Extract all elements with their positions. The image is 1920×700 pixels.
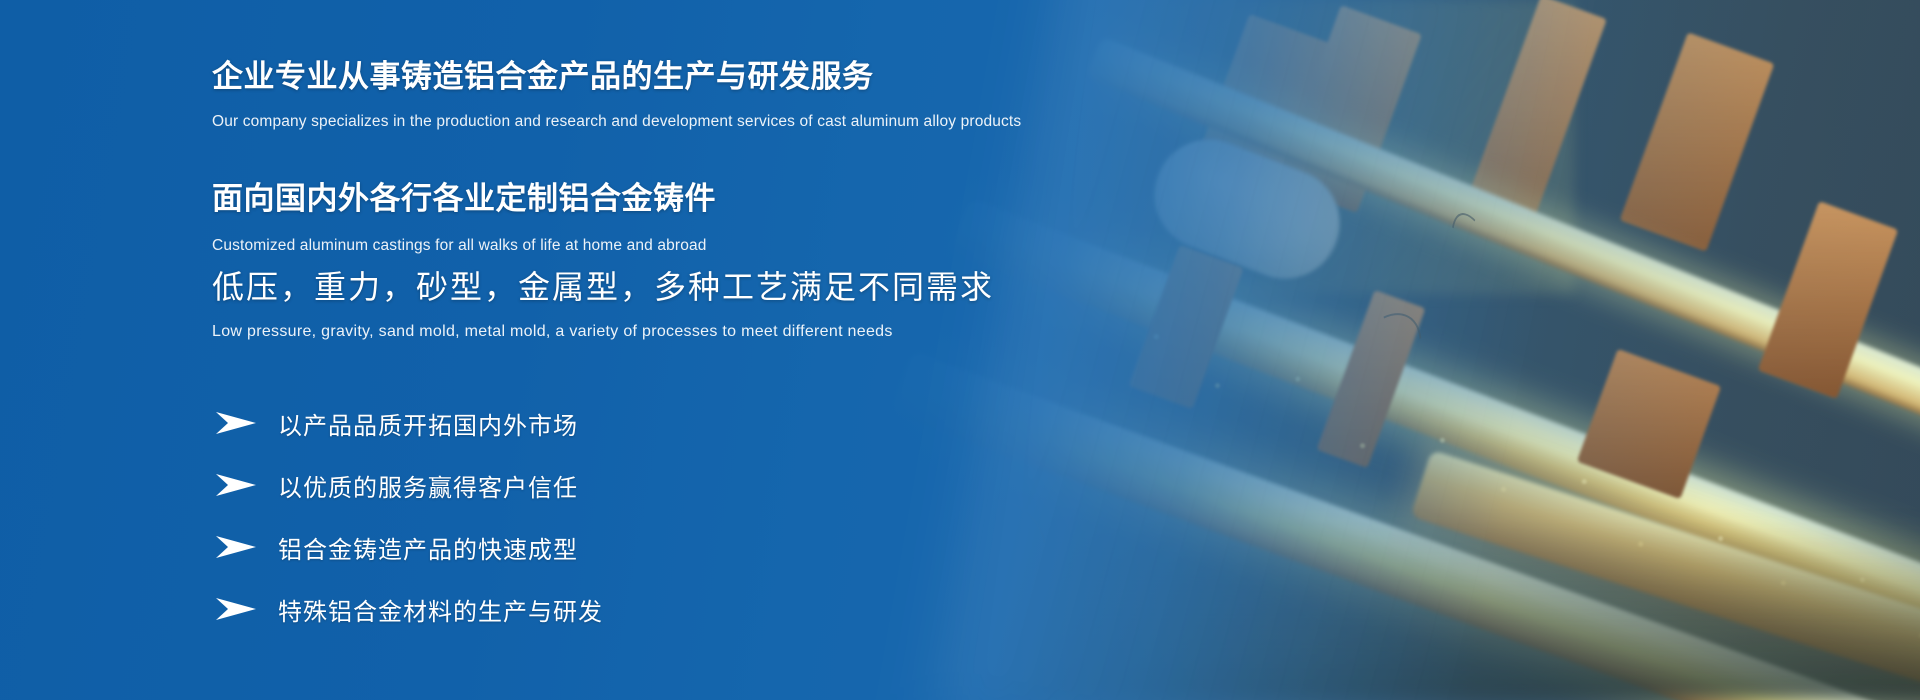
heading-block-1: 企业专业从事铸造铝合金产品的生产与研发服务 Our company specia… [212, 58, 1021, 132]
hero-banner: 企业专业从事铸造铝合金产品的生产与研发服务 Our company specia… [0, 0, 1920, 700]
list-item-label: 以优质的服务赢得客户信任 [278, 468, 578, 503]
arrow-right-icon [214, 597, 258, 621]
list-item-label: 铝合金铸造产品的快速成型 [278, 530, 578, 565]
list-item-label: 以产品品质开拓国内外市场 [278, 406, 578, 441]
arrow-right-icon [214, 411, 258, 435]
list-item: 特殊铝合金材料的生产与研发 [214, 578, 603, 640]
heading-2-cn: 面向国内外各行各业定制铝合金铸件 [212, 180, 716, 217]
banner-content: 企业专业从事铸造铝合金产品的生产与研发服务 Our company specia… [212, 0, 1412, 700]
heading-1-cn: 企业专业从事铸造铝合金产品的生产与研发服务 [212, 58, 1021, 95]
list-item-label: 特殊铝合金材料的生产与研发 [278, 592, 603, 627]
feature-bullet-list: 以产品品质开拓国内外市场 以优质的服务赢得客户信任 铝合金铸造产品的快速成型 特… [214, 392, 603, 640]
arrow-right-icon [214, 473, 258, 497]
heading-block-2: 面向国内外各行各业定制铝合金铸件 Customized aluminum cas… [212, 180, 716, 256]
list-item: 铝合金铸造产品的快速成型 [214, 516, 603, 578]
arrow-right-icon [214, 535, 258, 559]
heading-3-en: Low pressure, gravity, sand mold, metal … [212, 322, 994, 343]
heading-1-en: Our company specializes in the productio… [212, 112, 1021, 132]
heading-3-cn: 低压，重力，砂型，金属型，多种工艺满足不同需求 [212, 268, 994, 306]
heading-block-3: 低压，重力，砂型，金属型，多种工艺满足不同需求 Low pressure, gr… [212, 268, 994, 343]
list-item: 以优质的服务赢得客户信任 [214, 454, 603, 516]
list-item: 以产品品质开拓国内外市场 [214, 392, 603, 454]
heading-2-en: Customized aluminum castings for all wal… [212, 236, 716, 256]
